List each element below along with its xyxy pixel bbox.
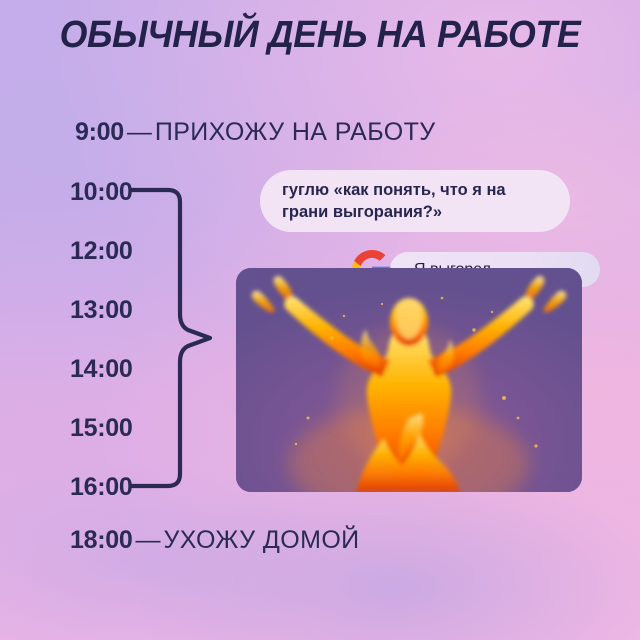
schedule-tick-16: 16:00 [70, 475, 132, 500]
curly-brace-icon [130, 178, 222, 498]
schedule-tick-15: 15:00 [70, 416, 132, 441]
meme-poster: ОБЫЧНЫЙ ДЕНЬ НА РАБОТЕ 9:00—ПРИХОЖУ НА Р… [0, 0, 640, 640]
schedule-time-first: 9:00 [75, 118, 124, 146]
curly-brace [130, 178, 222, 498]
burning-man-photo [236, 268, 582, 492]
page-title: ОБЫЧНЫЙ ДЕНЬ НА РАБОТЕ [19, 14, 621, 57]
schedule-tick-14: 14:00 [70, 357, 132, 382]
schedule-row-last: 18:00—УХОЖУ ДОМОЙ [70, 528, 360, 553]
schedule-tick-12: 12:00 [70, 239, 132, 264]
schedule-time-last: 18:00 [70, 526, 132, 554]
schedule-dash-last: — [132, 526, 163, 554]
bubble-line-2: грани выгорания?» [282, 202, 548, 224]
schedule-desc-last: УХОЖУ ДОМОЙ [163, 526, 359, 554]
schedule-desc-first: ПРИХОЖУ НА РАБОТУ [155, 118, 436, 146]
schedule-tick-10: 10:00 [70, 180, 132, 205]
search-query-bubble: гуглю «как понять, что я на грани выгора… [260, 170, 570, 232]
burning-man-illustration [236, 268, 582, 492]
schedule-dash-first: — [124, 118, 155, 146]
schedule-row-first: 9:00—ПРИХОЖУ НА РАБОТУ [75, 120, 436, 145]
schedule-tick-13: 13:00 [70, 298, 132, 323]
bubble-line-1: гуглю «как понять, что я на [282, 180, 548, 202]
